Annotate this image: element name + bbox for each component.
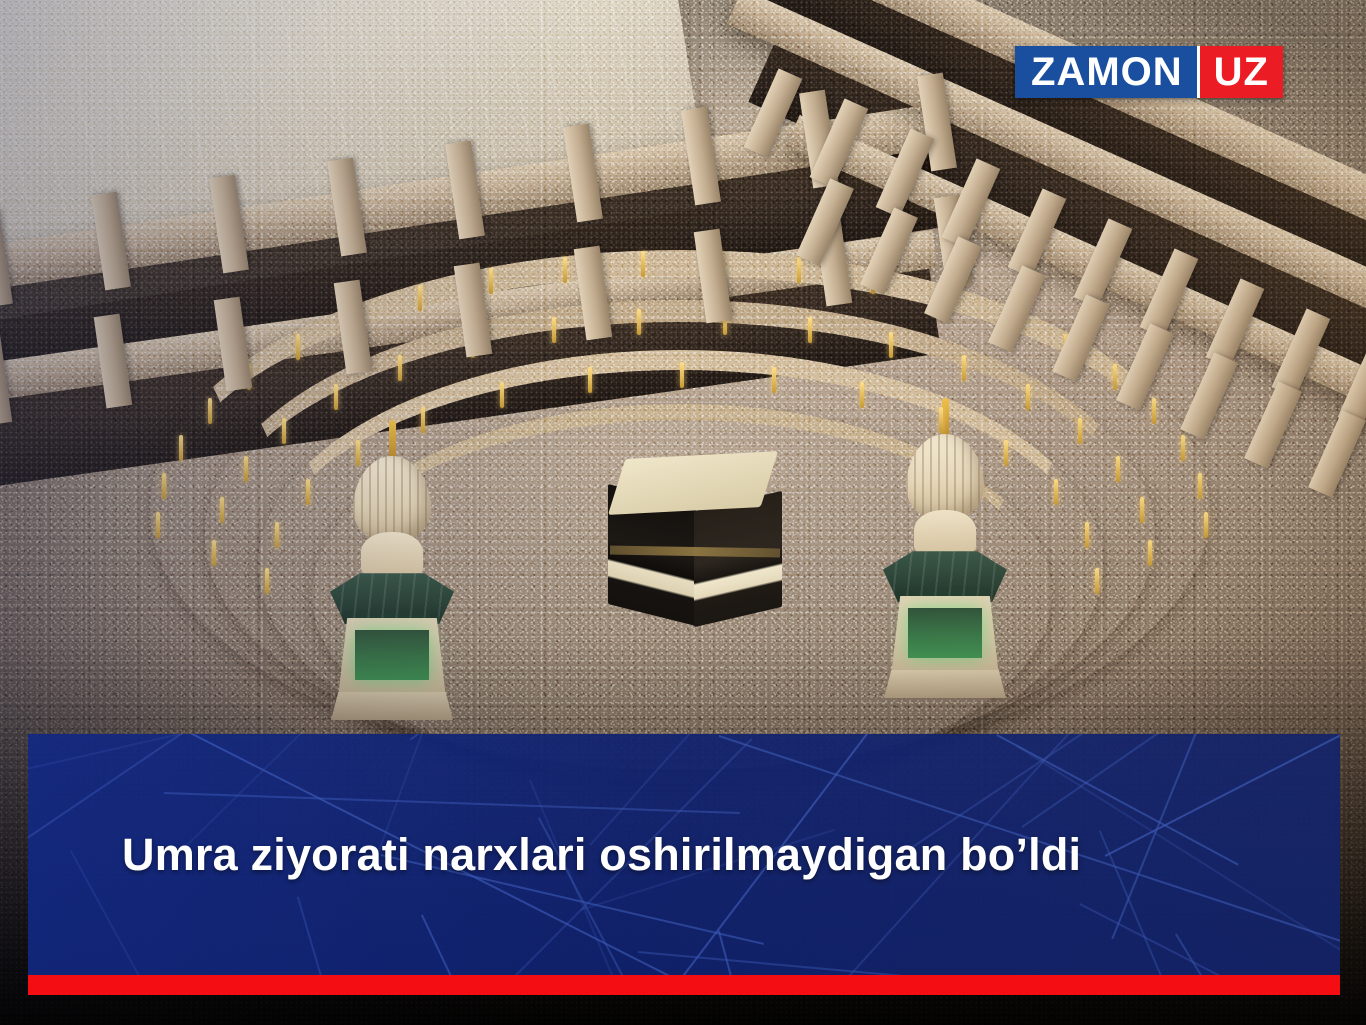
news-share-card: ZAMON UZ Umra ziyorati narxlari oshirilm…: [0, 0, 1366, 1025]
lamp-post: [282, 418, 286, 444]
lamp-post: [1004, 440, 1008, 466]
lamp-post: [588, 367, 592, 393]
lamp-post: [1148, 540, 1152, 566]
lamp-post: [208, 398, 212, 424]
minaret-dome: [353, 456, 431, 542]
lamp-post: [398, 355, 402, 381]
lamp-post: [334, 384, 338, 410]
lamp-post: [156, 512, 160, 538]
lamp-post: [500, 382, 504, 408]
lamp-post: [244, 456, 248, 482]
lamp-post: [1054, 479, 1058, 505]
minaret-green-light: [355, 630, 429, 680]
minaret-tower-left: [327, 420, 457, 720]
lamp-post: [179, 435, 183, 461]
kaaba: [600, 455, 790, 645]
lamp-post: [680, 362, 684, 388]
lamp-post: [489, 268, 493, 294]
lamp-post: [939, 407, 943, 433]
lamp-post: [162, 473, 166, 499]
lamp-post: [1116, 456, 1120, 482]
lamp-post: [962, 355, 966, 381]
lamp-post: [1095, 568, 1099, 594]
red-accent-rule: [28, 975, 1340, 995]
zamon-uz-logo[interactable]: ZAMON UZ: [1015, 46, 1283, 98]
lamp-post: [306, 479, 310, 505]
lamp-post: [418, 285, 422, 311]
lamp-post: [1181, 435, 1185, 461]
lamp-post: [1026, 384, 1030, 410]
lamp-post: [889, 332, 893, 358]
minaret-green-light: [908, 608, 982, 658]
lamp-post: [296, 334, 300, 360]
minaret-base: [331, 692, 453, 720]
lamp-post: [421, 407, 425, 433]
kaaba-roof: [608, 451, 778, 515]
lamp-post: [563, 257, 567, 283]
lamp-post: [641, 251, 645, 277]
lamp-post: [1198, 473, 1202, 499]
lamp-post: [797, 257, 801, 283]
lamp-post: [212, 540, 216, 566]
lamp-post: [265, 568, 269, 594]
minaret-green-roof: [330, 570, 454, 624]
lamp-post: [1078, 418, 1082, 444]
minaret-dome: [906, 434, 984, 520]
kaaba-face-right: [694, 491, 782, 627]
minaret-neck: [361, 532, 423, 578]
minaret-base: [884, 670, 1006, 698]
minaret-tower-right: [880, 398, 1010, 698]
logo-primary-text: ZAMON: [1015, 46, 1197, 98]
lamp-post: [1085, 522, 1089, 548]
lamp-post: [772, 367, 776, 393]
lamp-post: [275, 522, 279, 548]
headline-text: Umra ziyorati narxlari oshirilmaydigan b…: [122, 734, 1300, 975]
lamp-post: [860, 382, 864, 408]
lamp-post: [552, 317, 556, 343]
lamp-post: [1140, 497, 1144, 523]
lamp-post: [356, 440, 360, 466]
headline-banner: Umra ziyorati narxlari oshirilmaydigan b…: [28, 734, 1340, 975]
lamp-post: [220, 497, 224, 523]
lamp-post: [1152, 398, 1156, 424]
lamp-post: [1113, 364, 1117, 390]
logo-accent-text: UZ: [1197, 46, 1283, 98]
minaret-neck: [914, 510, 976, 556]
lamp-post: [637, 309, 641, 335]
lamp-post: [808, 317, 812, 343]
lamp-post: [1204, 512, 1208, 538]
minaret-green-roof: [883, 548, 1007, 602]
